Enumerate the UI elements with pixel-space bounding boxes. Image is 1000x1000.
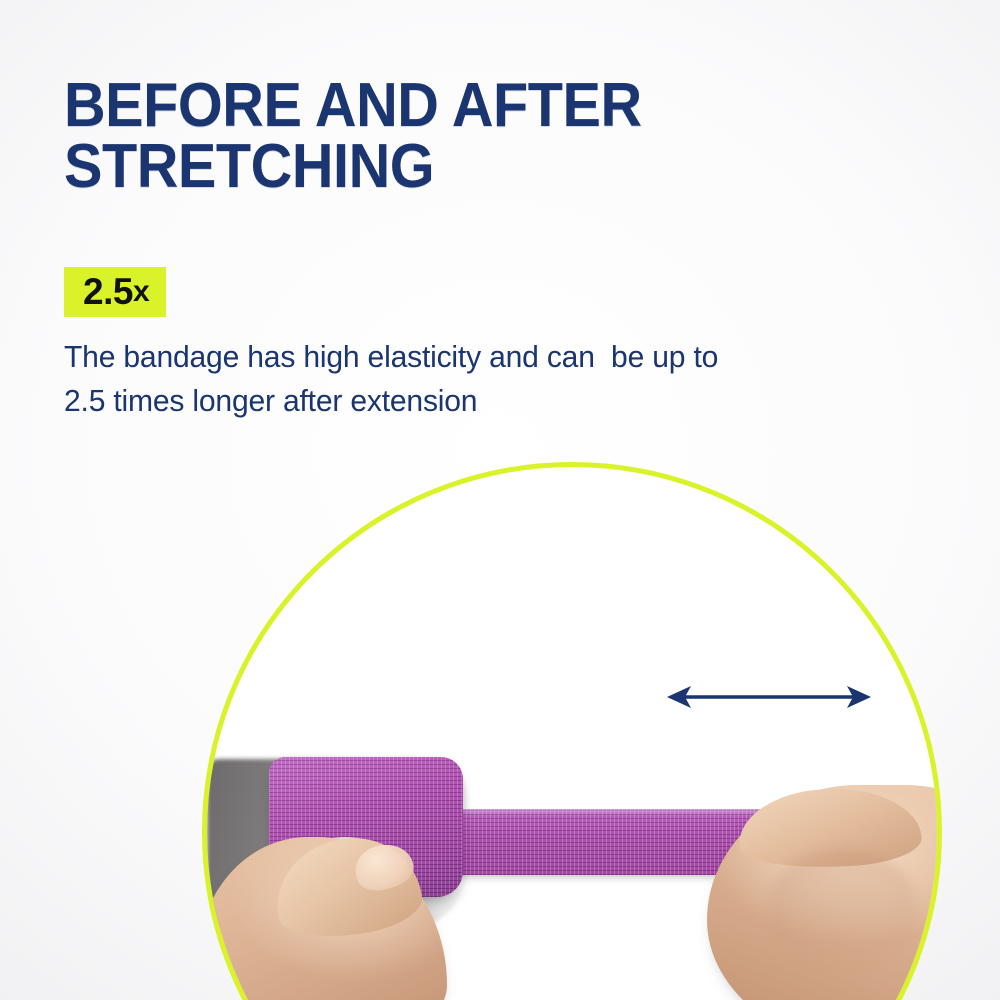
multiplier-badge: 2.5x	[64, 267, 166, 317]
headline-line-1: BEFORE AND AFTER	[64, 76, 864, 137]
badge-value: 2.5	[83, 271, 133, 313]
description-text: The bandage has high elasticity and can …	[64, 335, 879, 423]
page-title: BEFORE AND AFTER STRETCHING	[64, 76, 864, 198]
badge-unit: x	[133, 275, 149, 309]
double-headed-horizontal-arrow-icon	[667, 679, 871, 715]
description-line-1: The bandage has high elasticity and can …	[64, 335, 879, 379]
product-photo-stage	[0, 440, 1000, 1000]
headline-line-2: STRETCHING	[64, 137, 864, 198]
product-photo-clip	[207, 467, 937, 1000]
right-hand-shading	[767, 849, 917, 969]
infographic-canvas: BEFORE AND AFTER STRETCHING 2.5x The ban…	[0, 0, 1000, 1000]
description-line-2: 2.5 times longer after extension	[64, 379, 879, 423]
